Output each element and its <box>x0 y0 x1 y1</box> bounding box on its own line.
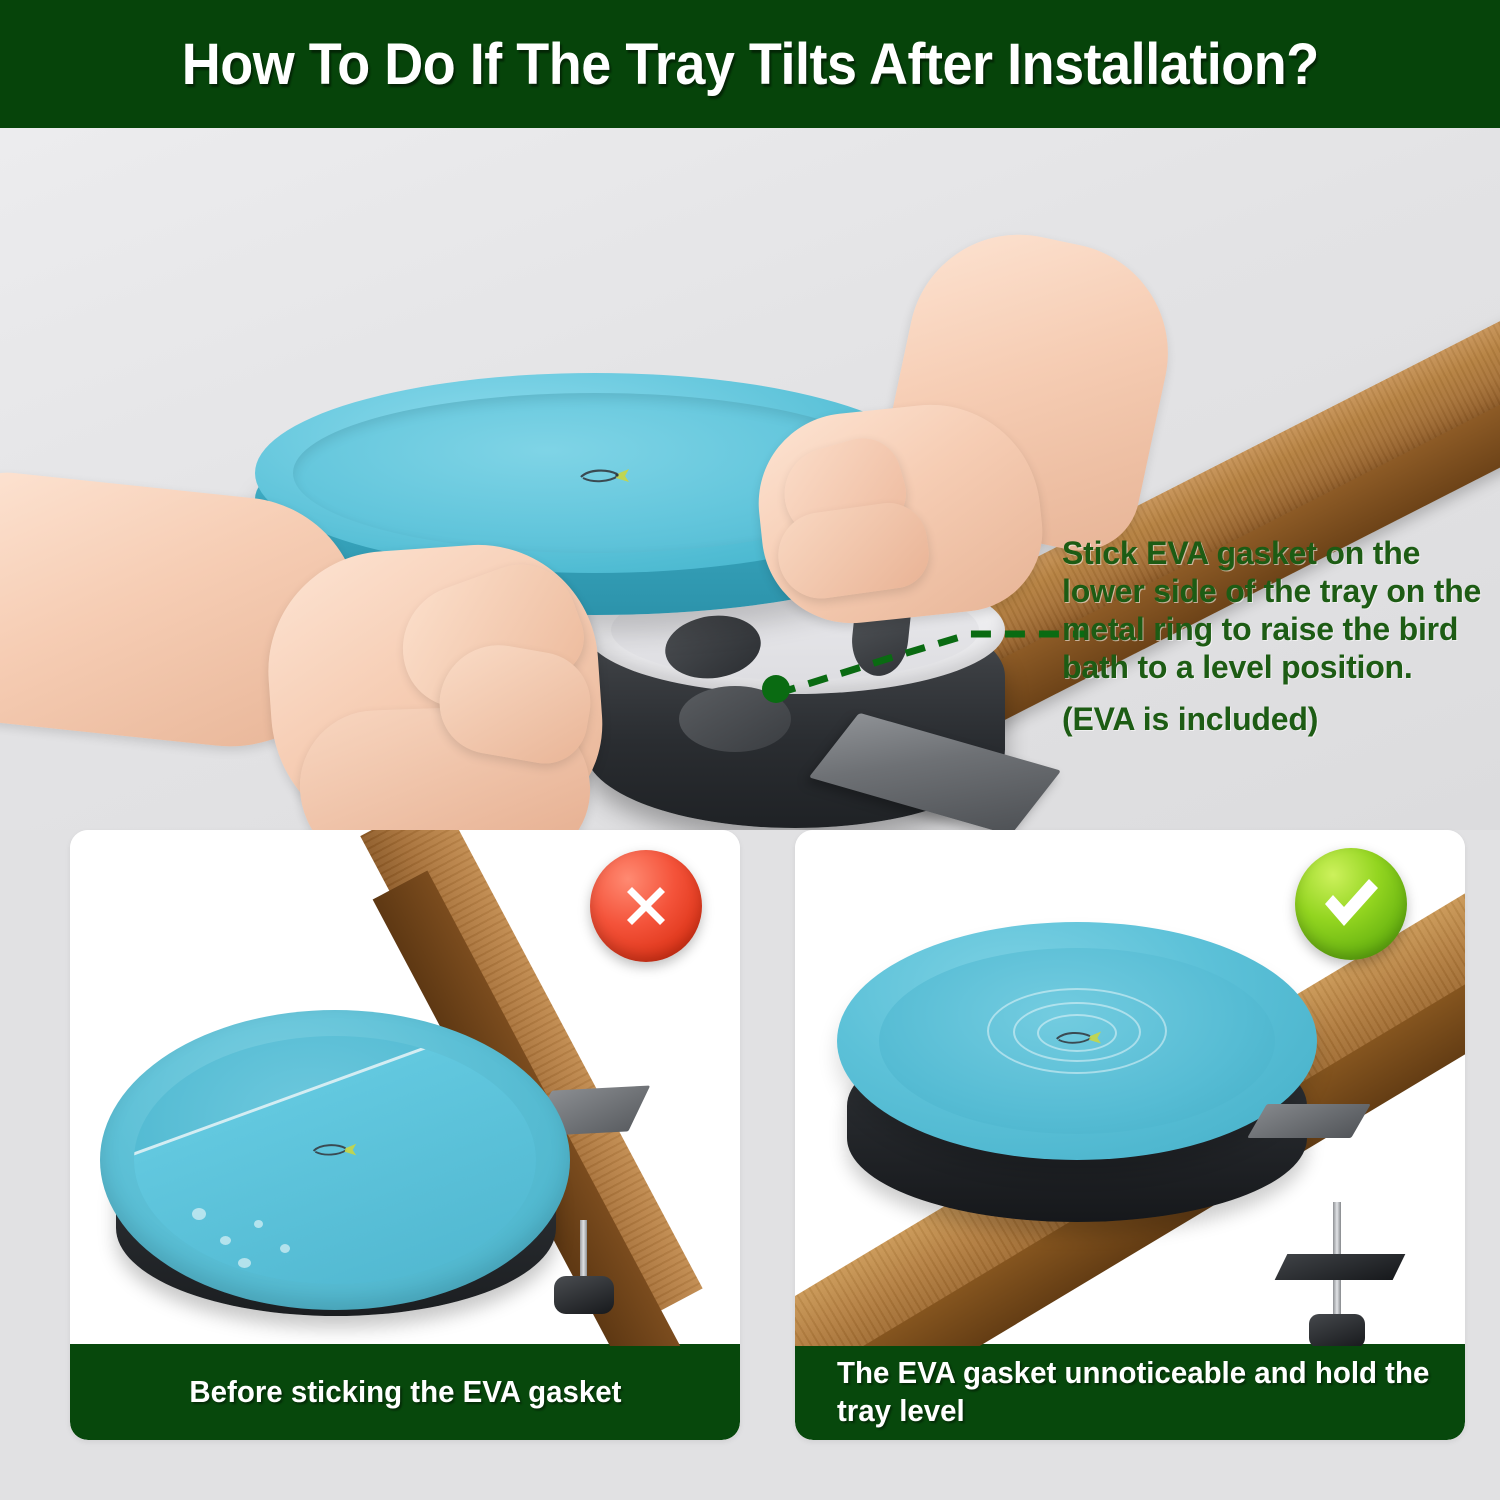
clamp-plate <box>1275 1254 1406 1280</box>
callout-dashed-line <box>770 548 1090 708</box>
water-droplet <box>280 1244 290 1253</box>
water-droplet <box>192 1208 206 1220</box>
water-droplet <box>254 1220 263 1228</box>
water-droplet <box>238 1258 251 1268</box>
clamp-knob <box>1309 1314 1365 1346</box>
panel-after-gasket: The EVA gasket unnoticeable and hold the… <box>795 830 1465 1440</box>
annotation-main-text: Stick EVA gasket on the lower side of th… <box>1062 534 1482 686</box>
eva-gasket-strip <box>1247 1104 1371 1138</box>
annotation-note-text: (EVA is included) <box>1062 700 1482 738</box>
bird-logo-icon <box>1053 1026 1103 1050</box>
panel-before-gasket: Before sticking the EVA gasket <box>70 830 740 1440</box>
bird-logo-icon <box>310 1138 358 1162</box>
caption-bar-before: Before sticking the EVA gasket <box>70 1344 740 1440</box>
caption-bar-after: The EVA gasket unnoticeable and hold the… <box>795 1344 1465 1440</box>
panel-after-scene <box>795 830 1465 1346</box>
caption-text: The EVA gasket unnoticeable and hold the… <box>837 1354 1434 1430</box>
hero-illustration: Stick EVA gasket on the lower side of th… <box>0 128 1500 830</box>
annotation-callout: Stick EVA gasket on the lower side of th… <box>1062 534 1482 738</box>
panel-before-scene <box>70 830 740 1346</box>
check-mark-icon <box>1295 848 1407 960</box>
left-hand <box>0 458 740 830</box>
header-bar: How To Do If The Tray Tilts After Instal… <box>0 0 1500 128</box>
x-mark-icon <box>590 850 702 962</box>
caption-text: Before sticking the EVA gasket <box>189 1373 621 1411</box>
callout-anchor-dot <box>762 675 790 703</box>
bird-bath-level <box>837 922 1317 1232</box>
water-droplet <box>220 1236 231 1245</box>
page-title: How To Do If The Tray Tilts After Instal… <box>182 31 1319 98</box>
bird-bath-tilted <box>100 1010 570 1330</box>
clamp-screw <box>580 1220 587 1282</box>
